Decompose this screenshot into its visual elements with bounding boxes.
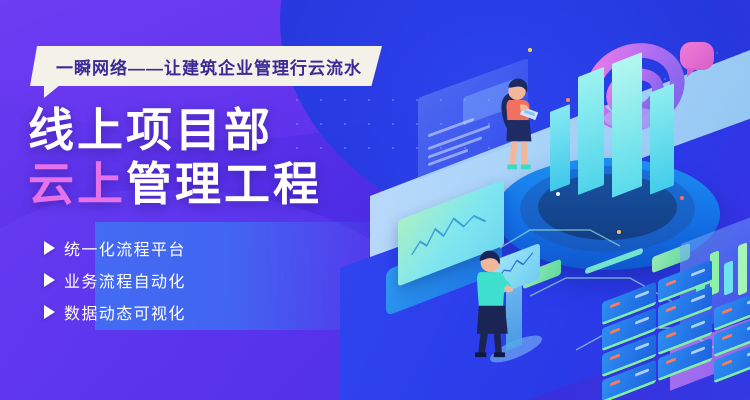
woman-with-tablet-figure (488, 72, 546, 178)
feature-item[interactable]: 数据动态可视化 (44, 298, 186, 326)
accent-dot (528, 48, 532, 52)
server-rack (658, 260, 712, 385)
feature-item-label: 数据动态可视化 (64, 300, 186, 324)
headline-block: 线上项目部 云上管理工程 (28, 104, 322, 212)
isometric-illustration (380, 0, 750, 400)
promo-banner: 一瞬网络——让建筑企业管理行云流水 线上项目部 云上管理工程 统一化流程平台 业… (0, 0, 750, 400)
feature-item[interactable]: 统一化流程平台 (44, 234, 186, 262)
feature-item[interactable]: 业务流程自动化 (44, 266, 186, 294)
chat-bubble-icon (680, 42, 714, 70)
headline-rest-text: 管理工程 (126, 158, 322, 210)
brand-tagline-ribbon: 一瞬网络——让建筑企业管理行云流水 (30, 46, 382, 86)
triangle-right-icon (44, 241, 55, 255)
headline-accent-text: 云上 (28, 158, 126, 210)
feature-item-label: 业务流程自动化 (64, 268, 186, 292)
headline-line-1: 线上项目部 (28, 104, 322, 158)
ribbon-tail-decor (44, 85, 60, 98)
server-rack (602, 282, 656, 400)
feature-list: 统一化流程平台 业务流程自动化 数据动态可视化 (44, 234, 186, 330)
headline-line-2: 云上管理工程 (28, 158, 322, 212)
data-tower (612, 52, 642, 198)
brand-tagline-text: 一瞬网络——让建筑企业管理行云流水 (56, 54, 362, 79)
man-at-kiosk-figure (462, 244, 518, 360)
data-tower (650, 83, 674, 194)
data-tower (550, 104, 570, 192)
feature-item-label: 统一化流程平台 (64, 236, 186, 260)
accent-dot (556, 192, 560, 196)
triangle-right-icon (44, 305, 55, 319)
triangle-right-icon (44, 273, 55, 287)
accent-dot (566, 98, 570, 102)
data-tower (578, 67, 604, 195)
